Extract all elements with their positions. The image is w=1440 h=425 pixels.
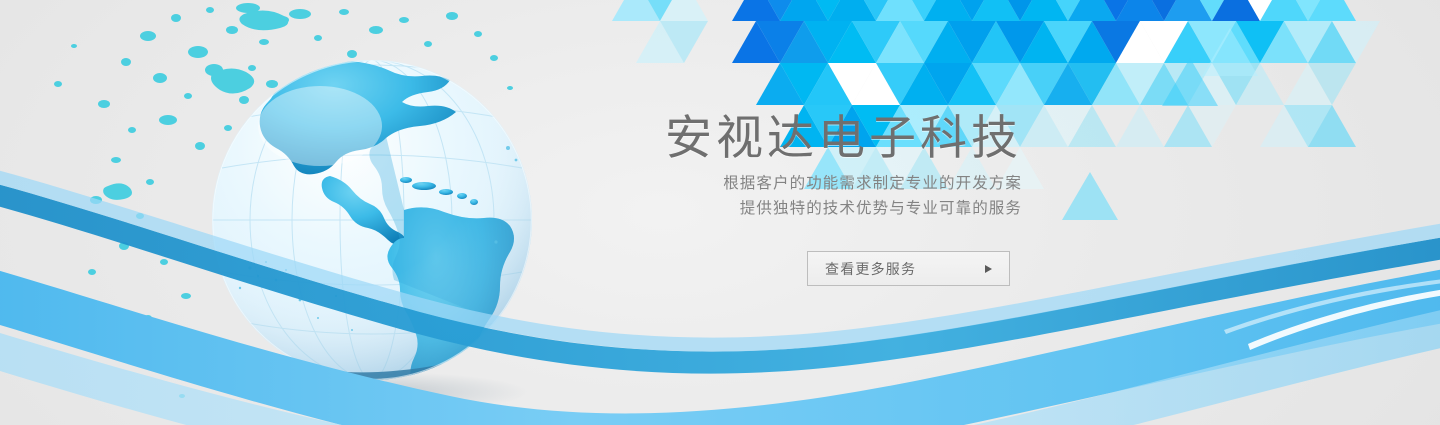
page-title: 安视达电子科技	[560, 112, 1022, 165]
hero-subtitle-line-2: 提供独特的技术优势与专业可靠的服务	[560, 196, 1022, 221]
triangle-right-icon	[985, 265, 992, 273]
hero-text-block: 安视达电子科技 根据客户的功能需求制定专业的开发方案 提供独特的技术优势与专业可…	[560, 112, 1022, 221]
view-more-services-button[interactable]: 查看更多服务	[807, 251, 1010, 286]
cta-label: 查看更多服务	[825, 259, 916, 279]
hero-subtitle-line-1: 根据客户的功能需求制定专业的开发方案	[560, 171, 1022, 196]
hero-banner: 安视达电子科技 根据客户的功能需求制定专业的开发方案 提供独特的技术优势与专业可…	[0, 0, 1440, 425]
